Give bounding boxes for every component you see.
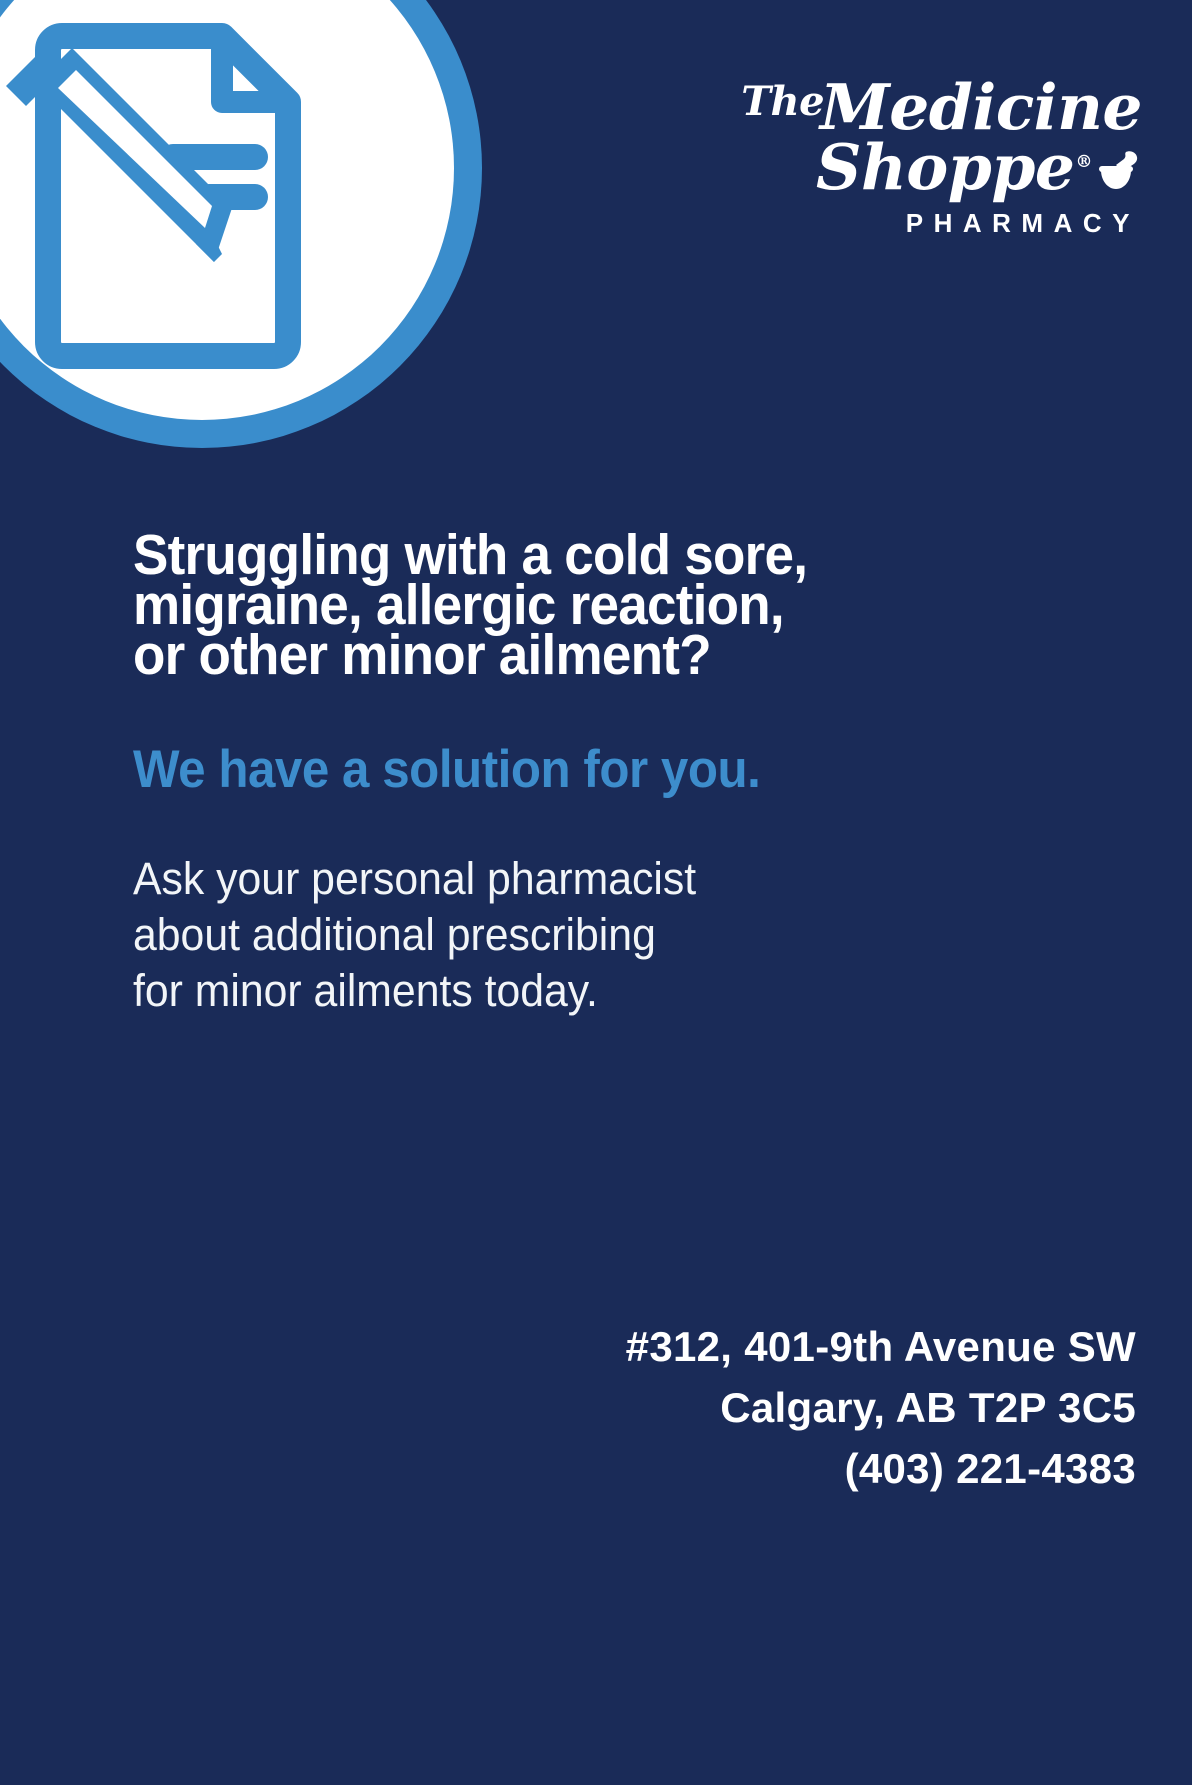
- brand-word-shoppe: Shoppe: [816, 130, 1075, 204]
- brand-word-the: The: [741, 78, 824, 125]
- page-headline: Struggling with a cold sore, migraine, a…: [133, 530, 1062, 680]
- badge-circle: [0, 0, 482, 448]
- brand-line-shoppe: Shoppe®: [722, 138, 1142, 198]
- mortar-and-pestle-icon: [1096, 148, 1142, 194]
- page-subheadline: We have a solution for you.: [133, 742, 1062, 797]
- brand-lockup: TheMedicine Shoppe® PHARMACY: [722, 78, 1142, 239]
- brand-tagline: PHARMACY: [722, 208, 1142, 239]
- document-with-pencil-icon: [0, 0, 400, 400]
- page-body-text: Ask your personal pharmacist about addit…: [133, 851, 1082, 1019]
- main-content: Struggling with a cold sore, migraine, a…: [133, 530, 1132, 1019]
- registered-trademark-icon: ®: [1076, 152, 1093, 172]
- poster-canvas: TheMedicine Shoppe® PHARMACY Struggling …: [0, 0, 1192, 1785]
- store-address-block: #312, 401-9th Avenue SW Calgary, AB T2P …: [626, 1316, 1136, 1499]
